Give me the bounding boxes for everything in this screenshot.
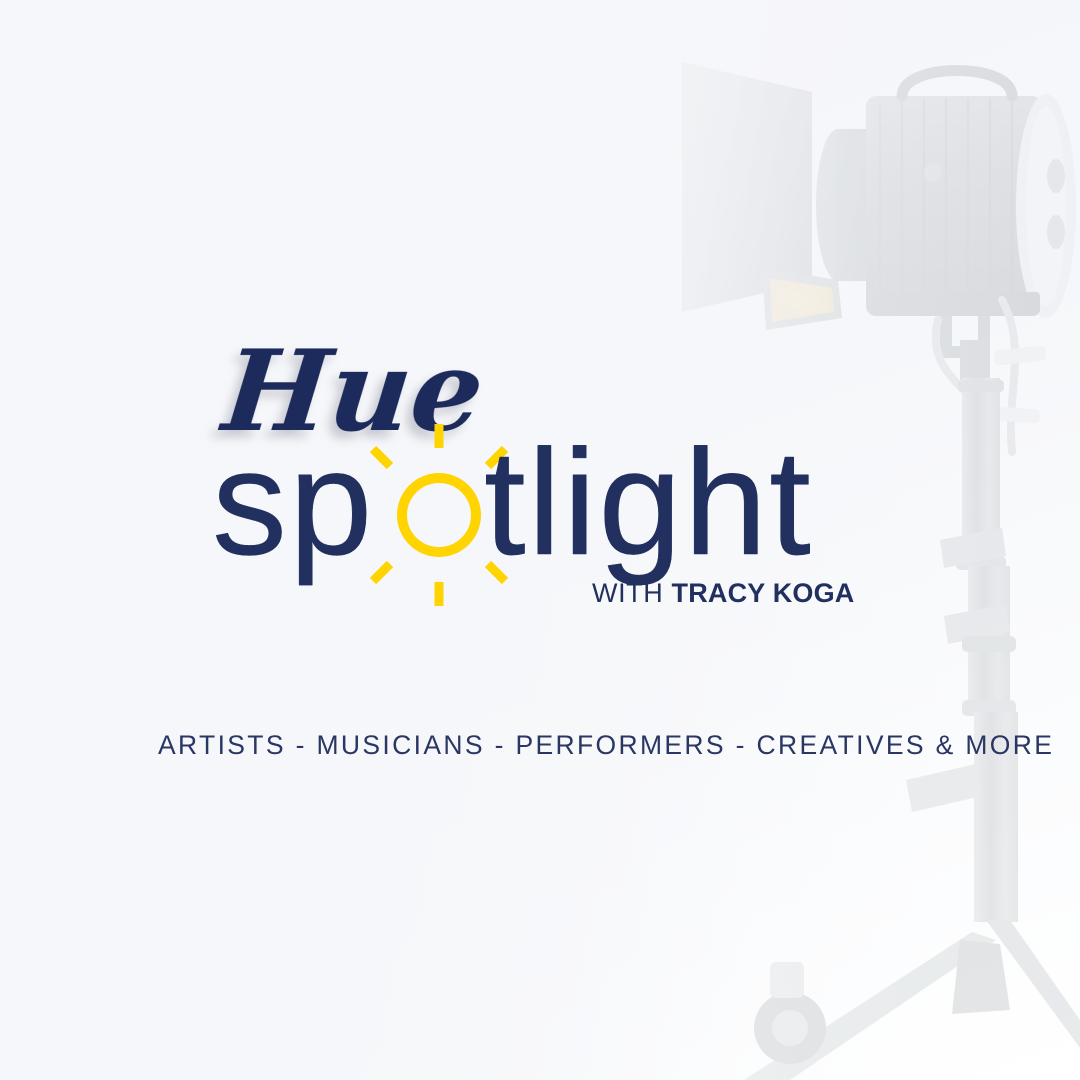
wordmark-part-sp: sp bbox=[212, 418, 374, 586]
tagline: ARTISTS - MUSICIANS - PERFORMERS - CREAT… bbox=[158, 730, 1054, 761]
logo-lockup: Hue sp tlight bbox=[0, 0, 1080, 1080]
with-label: WITH bbox=[592, 578, 663, 608]
wordmark-part-tlight: tlight bbox=[484, 418, 813, 586]
host-credit-line: WITH TRACY KOGA bbox=[592, 578, 855, 609]
host-name: TRACY KOGA bbox=[672, 578, 855, 608]
brand-wordmark-spotlight: sp tlight bbox=[212, 438, 852, 598]
podcast-cover-art: Hue sp tlight bbox=[0, 0, 1080, 1080]
